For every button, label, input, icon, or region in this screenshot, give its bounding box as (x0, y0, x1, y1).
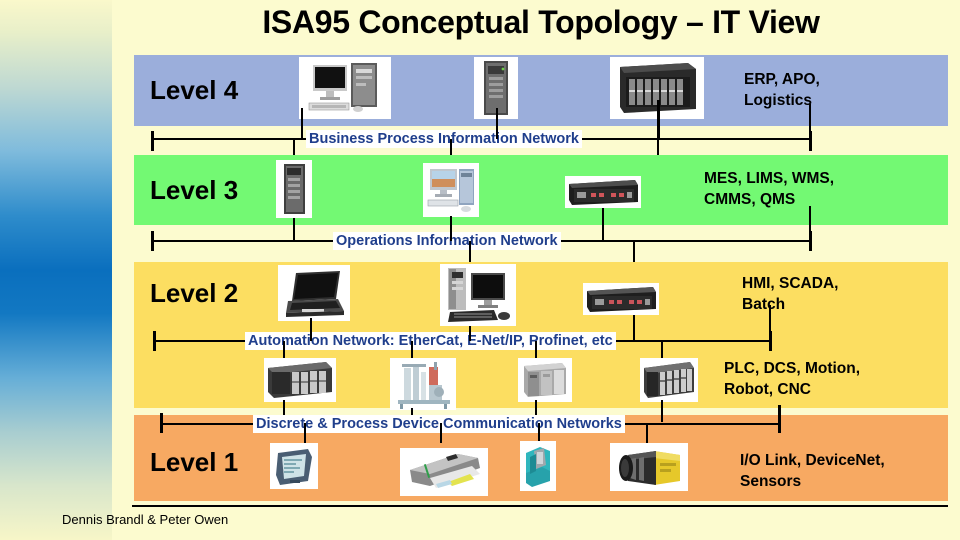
desktop-computer-icon (440, 264, 516, 326)
handheld-hmi-icon (270, 443, 318, 489)
drop-line-l2b-dev4-up (661, 341, 663, 359)
actuator-valve-icon (520, 441, 556, 491)
drop-line-l1-apps (778, 405, 781, 433)
bus-terminator-left-level4 (151, 131, 154, 151)
device-communication-network-label: Discrete & Process Device Communication … (253, 415, 625, 433)
drop-line-l3-dev2-down (450, 216, 452, 241)
level-4-label: Level 4 (150, 75, 238, 106)
laptop-icon (278, 265, 350, 321)
slide-canvas: ISA95 Conceptual Topology – IT View Leve… (0, 0, 960, 540)
controller-module-icon (518, 358, 572, 402)
process-skid-icon (390, 358, 456, 410)
drop-line-l2-apps (769, 305, 771, 341)
drop-line-l2b-dev3-up (535, 341, 537, 359)
left-gradient-decoration (0, 0, 112, 540)
desktop-workstation-icon (299, 57, 391, 119)
level-2-control-applications: PLC, DCS, Motion, Robot, CNC (724, 358, 860, 400)
barcode-scanner-icon (400, 448, 488, 496)
footer-credits: Dennis Brandl & Peter Owen (62, 512, 228, 527)
level-2-applications: HMI, SCADA, Batch (742, 273, 838, 315)
plc-chassis-icon (640, 358, 698, 402)
level-2-label: Level 2 (150, 278, 238, 309)
drop-line-l2b-dev2-up (411, 341, 413, 359)
drop-line-l2-dev3-up (633, 241, 635, 263)
level-4-band: Level 4 ERP, APO, Logistics (134, 55, 948, 126)
left-gradient-fade (112, 0, 132, 540)
level-3-label: Level 3 (150, 175, 238, 206)
rack-server-icon (565, 176, 641, 208)
page-title: ISA95 Conceptual Topology – IT View (132, 2, 950, 44)
drop-line-l2-dev3-down (633, 315, 635, 341)
drop-line-l3-dev3-down (602, 208, 604, 241)
drop-line-l1-dev2 (440, 423, 442, 443)
drop-line-l3-apps (809, 206, 811, 241)
footer-divider (132, 505, 948, 507)
drop-line-l2-dev2-down (469, 326, 471, 341)
drop-line-l1-dev1 (304, 423, 306, 443)
drop-line-l1-dev3 (538, 423, 540, 441)
vision-camera-icon (610, 443, 688, 491)
drop-line-l2-dev1-down (310, 318, 312, 341)
level-3-band: Level 3 MES, LIMS, WMS, CMMS, QMS (134, 155, 948, 225)
drop-line-l1-dev4 (646, 423, 648, 443)
drop-line-l4-dev1 (301, 108, 303, 139)
drop-line-l2-dev2-up (469, 241, 471, 263)
automation-network-label: Automation Network: EtherCat, E-Net/IP, … (245, 332, 616, 350)
level-1-label: Level 1 (150, 447, 238, 478)
level-3-applications: MES, LIMS, WMS, CMMS, QMS (704, 168, 834, 210)
operations-information-network-label: Operations Information Network (333, 232, 561, 250)
plc-rack-icon (264, 358, 336, 402)
desktop-workstation-icon (423, 163, 479, 217)
business-process-network-label: Business Process Information Network (306, 130, 582, 148)
drop-line-l3-dev1-down (293, 218, 295, 241)
tower-server-icon (276, 160, 312, 218)
drop-line-l4-dev2 (496, 108, 498, 139)
level-1-applications: I/O Link, DeviceNet, Sensors (740, 450, 885, 492)
drop-line-l2b-dev1-up (283, 341, 285, 359)
drop-line-l4-dev3 (657, 100, 660, 139)
drop-line-l2b-dev4-down (661, 400, 663, 422)
drop-line-l4-apps (809, 104, 811, 139)
rack-server-icon (583, 283, 659, 315)
